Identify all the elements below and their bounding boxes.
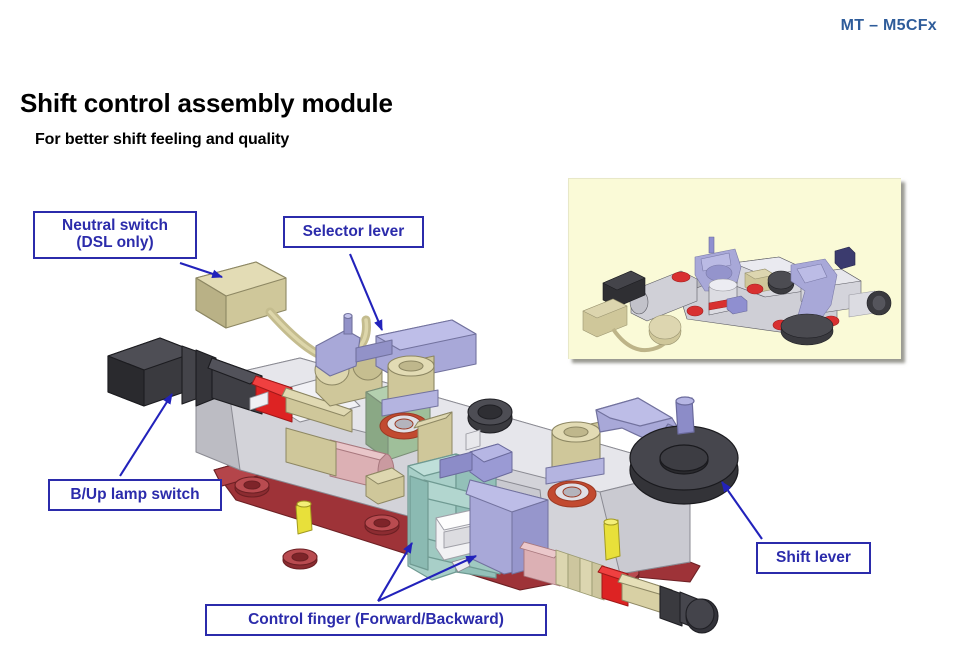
callout-neutral-switch[interactable]: Neutral switch (DSL only) [33,211,197,259]
callout-selector-lever[interactable]: Selector lever [283,216,424,248]
callout-control-finger[interactable]: Control finger (Forward/Backward) [205,604,547,636]
inset-assembly-photo [568,178,901,359]
callout-bup-lamp-switch[interactable]: B/Up lamp switch [48,479,222,511]
callout-shift-lever[interactable]: Shift lever [756,542,871,574]
page-subtitle: For better shift feeling and quality [35,131,289,149]
inset-cad-drawing [569,179,901,359]
header-model-code: MT – M5CFx [841,17,937,35]
slide: MT – M5CFx Shift control assembly module… [0,0,959,660]
page-title: Shift control assembly module [20,88,393,119]
